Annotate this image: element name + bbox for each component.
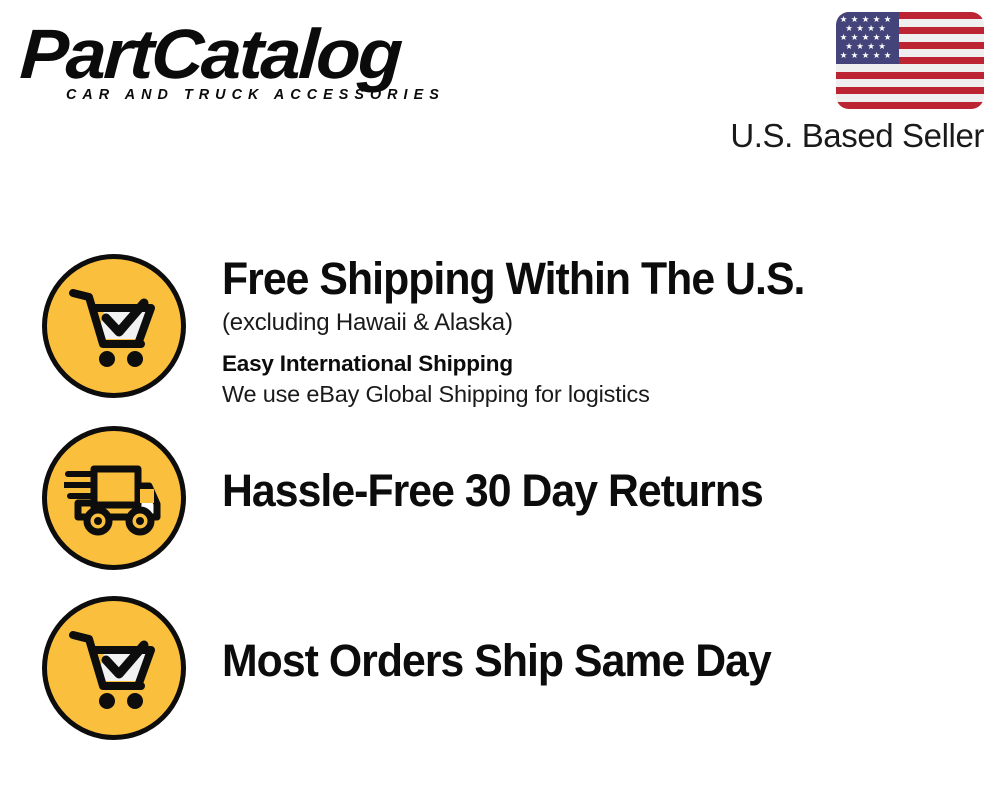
- feature-text-block: Hassle-Free 30 Day Returns: [222, 468, 992, 515]
- feature-subtitle: Easy International Shipping: [222, 350, 992, 377]
- banner-header: PartCatalog CAR AND TRUCK ACCESSORIES ★ …: [0, 0, 1000, 180]
- shopping-cart-check-icon: [42, 596, 186, 740]
- seller-badge: ★ ★ ★ ★ ★ ★ ★ ★ ★ ★ ★ ★ ★ ★ ★ ★ ★ ★ ★ ★: [674, 12, 984, 155]
- feature-title: Most Orders Ship Same Day: [222, 638, 954, 685]
- feature-subnote: We use eBay Global Shipping for logistic…: [222, 380, 992, 409]
- feature-title: Hassle-Free 30 Day Returns: [222, 468, 954, 515]
- delivery-truck-icon: [42, 426, 186, 570]
- feature-note: (excluding Hawaii & Alaska): [222, 308, 992, 338]
- brand-wordmark: PartCatalog: [18, 22, 510, 86]
- features-list: Free Shipping Within The U.S. (excluding…: [0, 180, 1000, 800]
- feature-title: Free Shipping Within The U.S.: [222, 256, 954, 303]
- seller-badge-label: U.S. Based Seller: [674, 117, 984, 155]
- feature-row: Most Orders Ship Same Day: [0, 590, 1000, 760]
- feature-text-block: Free Shipping Within The U.S. (excluding…: [222, 256, 992, 409]
- feature-text-block: Most Orders Ship Same Day: [222, 638, 992, 685]
- shopping-cart-check-icon: [42, 254, 186, 398]
- brand-tagline: CAR AND TRUCK ACCESSORIES: [66, 87, 488, 103]
- brand-logo: PartCatalog CAR AND TRUCK ACCESSORIES: [22, 22, 492, 103]
- feature-row: Free Shipping Within The U.S. (excluding…: [0, 248, 1000, 420]
- feature-row: Hassle-Free 30 Day Returns: [0, 420, 1000, 590]
- us-flag-icon: ★ ★ ★ ★ ★ ★ ★ ★ ★ ★ ★ ★ ★ ★ ★ ★ ★ ★ ★ ★: [836, 12, 984, 109]
- flag-canton: ★ ★ ★ ★ ★ ★ ★ ★ ★ ★ ★ ★ ★ ★ ★ ★ ★ ★ ★ ★: [836, 12, 899, 64]
